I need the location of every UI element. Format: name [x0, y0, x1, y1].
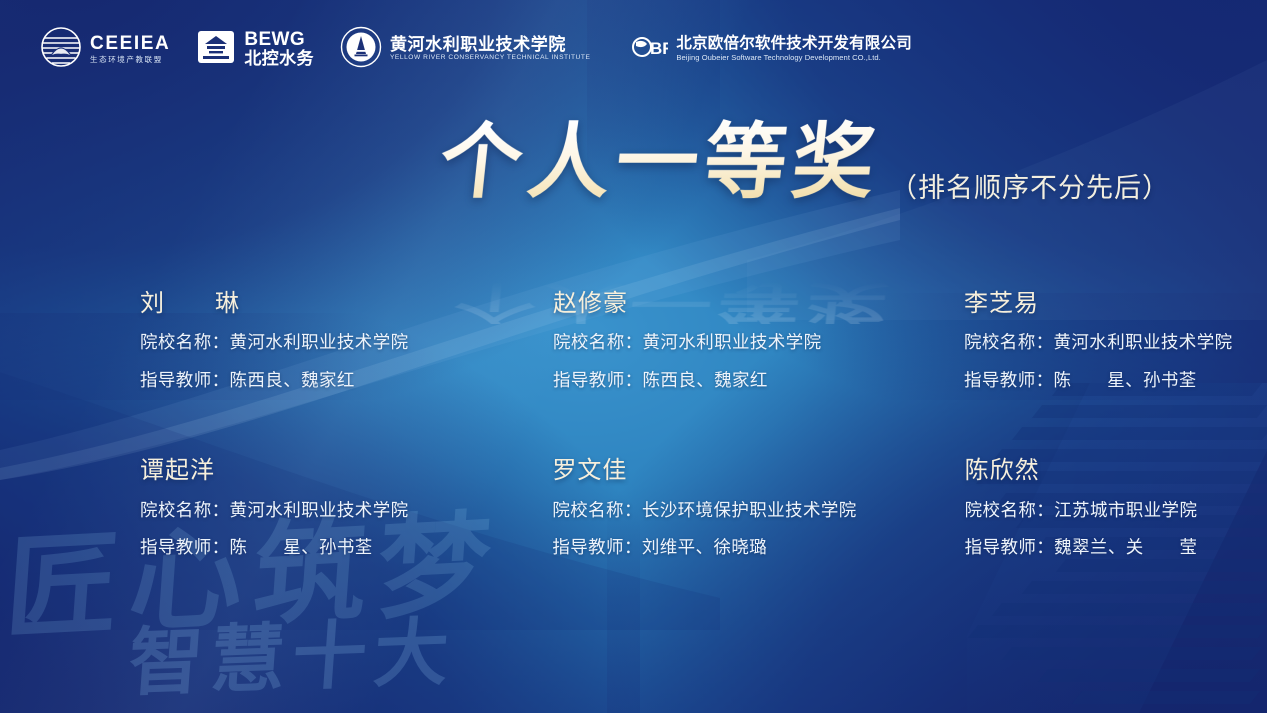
winner-card: 刘 琳 院校名称：黄河水利职业技术学院 指导教师：陈西良、魏家红 — [0, 288, 443, 393]
logo-obr: BR 北京欧倍尔软件技术开发有限公司 Beijing Oubeier Softw… — [616, 27, 912, 72]
globe-lines-icon — [40, 26, 82, 73]
logo-yrcti-sub: YELLOW RIVER CONSERVANCY TECHNICAL INSTI… — [390, 55, 590, 62]
winner-card: 李芝易 院校名称：黄河水利职业技术学院 指导教师：陈 星、孙书荃 — [856, 288, 1267, 393]
title-row: 个人一等奖 （排名顺序不分先后） — [440, 118, 1170, 214]
winners-row-2: 谭起洋 院校名称：黄河水利职业技术学院 指导教师：陈 星、孙书荃 罗文佳 院校名… — [0, 455, 1267, 560]
winner-teachers: 指导教师：刘维平、徐晓璐 — [552, 535, 856, 560]
award-slide: 匠心筑梦 智慧十大 — [0, 0, 1267, 713]
logo-yrcti: 黄河水利职业技术学院 YELLOW RIVER CONSERVANCY TECH… — [340, 26, 590, 73]
logo-obr-sub: Beijing Oubeier Software Technology Deve… — [676, 54, 912, 62]
winner-card: 陈欣然 院校名称：江苏城市职业学院 指导教师：魏翠兰、关 莹 — [857, 455, 1267, 560]
winner-name: 赵修豪 — [553, 288, 856, 320]
logo-ceeiea: CEEIEA 生态环境产教联盟 — [40, 26, 170, 73]
winner-teachers: 指导教师：陈西良、魏家红 — [140, 368, 443, 393]
svg-text:BR: BR — [650, 39, 668, 58]
winners-row-1: 刘 琳 院校名称：黄河水利职业技术学院 指导教师：陈西良、魏家红 赵修豪 院校名… — [0, 288, 1267, 393]
circular-seal-icon — [340, 26, 382, 73]
winner-school: 院校名称：长沙环境保护职业技术学院 — [552, 498, 856, 523]
logo-ceeiea-sub: 生态环境产教联盟 — [90, 56, 170, 64]
winner-school: 院校名称：黄河水利职业技术学院 — [140, 330, 443, 355]
logo-ceeiea-main: CEEIEA — [90, 34, 170, 53]
winner-teachers: 指导教师：陈西良、魏家红 — [553, 368, 856, 393]
winner-name: 陈欣然 — [965, 455, 1267, 487]
title-note: （排名顺序不分先后） — [890, 166, 1170, 214]
logo-yrcti-main: 黄河水利职业技术学院 — [390, 36, 590, 53]
page-title: 个人一等奖 — [435, 118, 885, 214]
winner-school: 院校名称：黄河水利职业技术学院 — [140, 498, 442, 523]
winner-school: 院校名称：黄河水利职业技术学院 — [964, 330, 1267, 355]
winner-school: 院校名称：江苏城市职业学院 — [965, 498, 1267, 523]
winner-name: 李芝易 — [964, 288, 1267, 320]
winner-teachers: 指导教师：魏翠兰、关 莹 — [965, 535, 1267, 560]
logo-obr-main: 北京欧倍尔软件技术开发有限公司 — [676, 36, 912, 52]
watermark-calligraphy-line2: 智慧十大 — [126, 592, 460, 710]
winner-name: 罗文佳 — [552, 455, 856, 487]
temple-building-icon — [196, 27, 236, 72]
partner-logo-bar: CEEIEA 生态环境产教联盟 BEWG 北控水务 — [40, 26, 938, 72]
logo-bewg-main: BEWG — [244, 30, 314, 49]
winner-school: 院校名称：黄河水利职业技术学院 — [553, 330, 856, 355]
winner-card: 罗文佳 院校名称：长沙环境保护职业技术学院 指导教师：刘维平、徐晓璐 — [442, 455, 856, 560]
winners-grid: 刘 琳 院校名称：黄河水利职业技术学院 指导教师：陈西良、魏家红 赵修豪 院校名… — [0, 288, 1267, 560]
globe-swirl-icon: BR — [616, 27, 668, 72]
title-zone: 个人一等奖 个人一等奖 （排名顺序不分先后） — [0, 118, 1267, 248]
winner-teachers: 指导教师：陈 星、孙书荃 — [140, 535, 442, 560]
winner-teachers: 指导教师：陈 星、孙书荃 — [964, 368, 1267, 393]
winner-card: 谭起洋 院校名称：黄河水利职业技术学院 指导教师：陈 星、孙书荃 — [0, 455, 442, 560]
winner-name: 谭起洋 — [140, 455, 442, 487]
logo-bewg-sub: 北控水务 — [244, 50, 314, 68]
logo-bewg: BEWG 北控水务 — [196, 27, 314, 72]
winner-name: 刘 琳 — [140, 288, 443, 320]
winner-card: 赵修豪 院校名称：黄河水利职业技术学院 指导教师：陈西良、魏家红 — [443, 288, 856, 393]
